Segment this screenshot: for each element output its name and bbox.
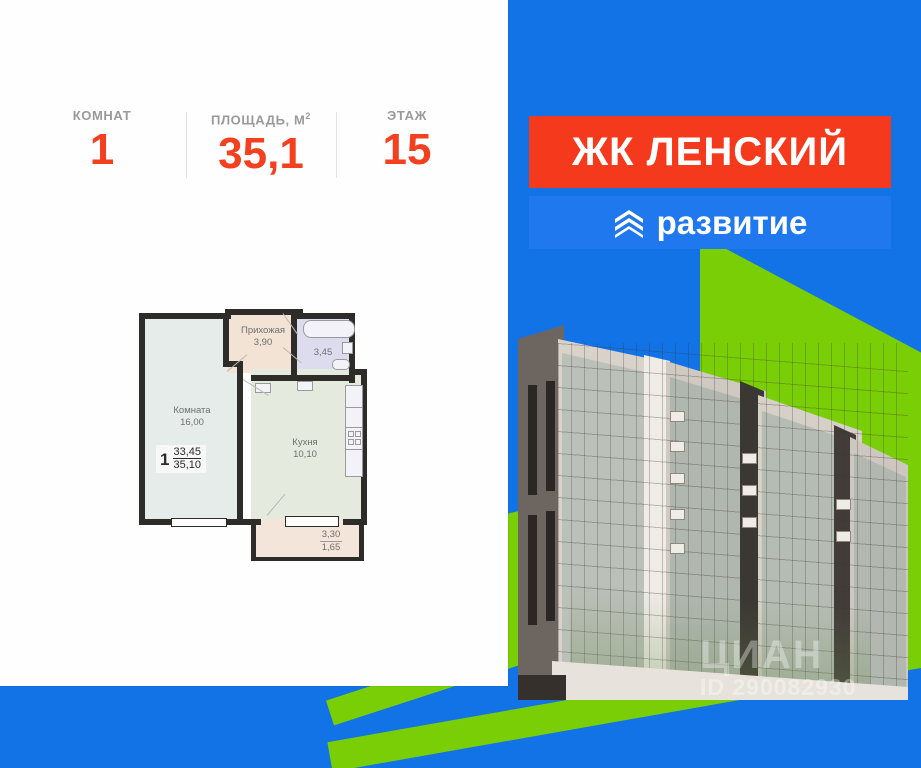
room-name-kitchen: Кухня [267, 437, 343, 449]
stat-rooms-value: 1 [18, 126, 186, 174]
stat-floor-value: 15 [336, 126, 478, 174]
ac-unit-icon [742, 453, 757, 464]
ac-unit-icon [742, 517, 757, 528]
room-area-kitchen: 10,10 [267, 449, 343, 461]
ac-unit-icon [670, 473, 685, 484]
wall-balcony-bottom [251, 557, 364, 561]
building-side-facade [518, 325, 564, 697]
window-kitchen [285, 516, 339, 527]
developer-name: развитие [657, 204, 808, 242]
complex-name-badge: ЖК ЛЕНСКИЙ [529, 116, 891, 188]
kitchen-sink-icon [345, 385, 363, 409]
stove-burner-icon [348, 431, 354, 437]
room-area-balcony-2: 1,65 [309, 542, 353, 554]
room-label-balcony: 3,30 1,65 [309, 529, 353, 554]
stat-floor-label: ЭТАЖ [336, 108, 478, 124]
room-area-hall: 3,90 [227, 337, 299, 349]
developer-badge: развитие [529, 196, 891, 249]
room-area-bath: 3,45 [297, 347, 349, 359]
stat-floor: ЭТАЖ 15 [336, 108, 478, 174]
ac-unit-icon [670, 509, 685, 520]
radiator-icon [297, 381, 313, 391]
ac-unit-icon [670, 411, 685, 422]
ac-unit-icon [670, 441, 685, 452]
wall-left [139, 313, 145, 525]
developer-logo: ЖК ЛЕНСКИЙ развитие [529, 116, 891, 249]
watermark-id: ID 290082930 [700, 674, 921, 701]
area-badge: 1 33,45 35,10 [156, 445, 206, 473]
counter-icon [345, 407, 363, 429]
room-label-living: Комната 16,00 [153, 405, 231, 429]
room-area-living: 16,00 [153, 417, 231, 429]
wall-balcony-right [359, 519, 364, 561]
room-name-hall: Прихожая [227, 325, 299, 337]
wall-balcony-left [251, 519, 256, 561]
listing-image: ЦИАН ID 290082930 ЖК ЛЕНСКИЙ развитие КО… [0, 0, 921, 768]
stat-area-value: 35,1 [186, 130, 336, 178]
badge-room-count: 1 [160, 451, 169, 468]
bathtub-icon [303, 320, 355, 338]
ac-unit-icon [742, 485, 757, 496]
building-base-dark [518, 675, 566, 700]
stat-area: ПЛОЩАДЬ, М2 35,1 [186, 108, 336, 178]
appliance-icon [345, 449, 363, 477]
stove-burner-icon [348, 439, 354, 445]
window-living [171, 518, 227, 527]
watermark: ЦИАН ID 290082930 [700, 636, 921, 701]
stove-burner-icon [355, 431, 361, 437]
ac-unit-icon [836, 499, 851, 510]
room-label-bath: 3,45 [297, 347, 349, 359]
toilet-icon [332, 359, 350, 370]
room-label-hall: Прихожая 3,90 [227, 325, 299, 349]
badge-area-living: 33,45 [173, 447, 201, 459]
stat-rooms-label: КОМНАТ [18, 108, 186, 124]
ac-unit-icon [670, 543, 685, 554]
floor-plan: Комната 16,00 Прихожая 3,90 3,45 Кухня 1… [137, 307, 385, 573]
stat-area-label-text: ПЛОЩАДЬ, М [211, 112, 305, 127]
wall-top-left [139, 313, 231, 319]
badge-area-total: 35,10 [173, 459, 201, 471]
badge-areas: 33,45 35,10 [173, 447, 201, 471]
ac-unit-icon [836, 531, 851, 542]
chevrons-up-icon [613, 208, 645, 238]
stove-burner-icon [355, 439, 361, 445]
watermark-brand: ЦИАН [700, 636, 921, 674]
info-card: КОМНАТ 1 ПЛОЩАДЬ, М2 35,1 ЭТАЖ 15 [0, 0, 508, 686]
wall-interior-living-right [237, 363, 243, 523]
stat-area-label-sup: 2 [305, 111, 311, 121]
wall-top-bath [297, 313, 355, 319]
room-name-living: Комната [153, 405, 231, 417]
stat-area-label: ПЛОЩАДЬ, М2 [186, 108, 336, 128]
stats-row: КОМНАТ 1 ПЛОЩАДЬ, М2 35,1 ЭТАЖ 15 [18, 108, 478, 188]
stat-rooms: КОМНАТ 1 [18, 108, 186, 174]
complex-name: ЖК ЛЕНСКИЙ [572, 130, 848, 175]
room-label-kitchen: Кухня 10,10 [267, 437, 343, 461]
room-area-balcony-1: 3,30 [320, 529, 343, 542]
